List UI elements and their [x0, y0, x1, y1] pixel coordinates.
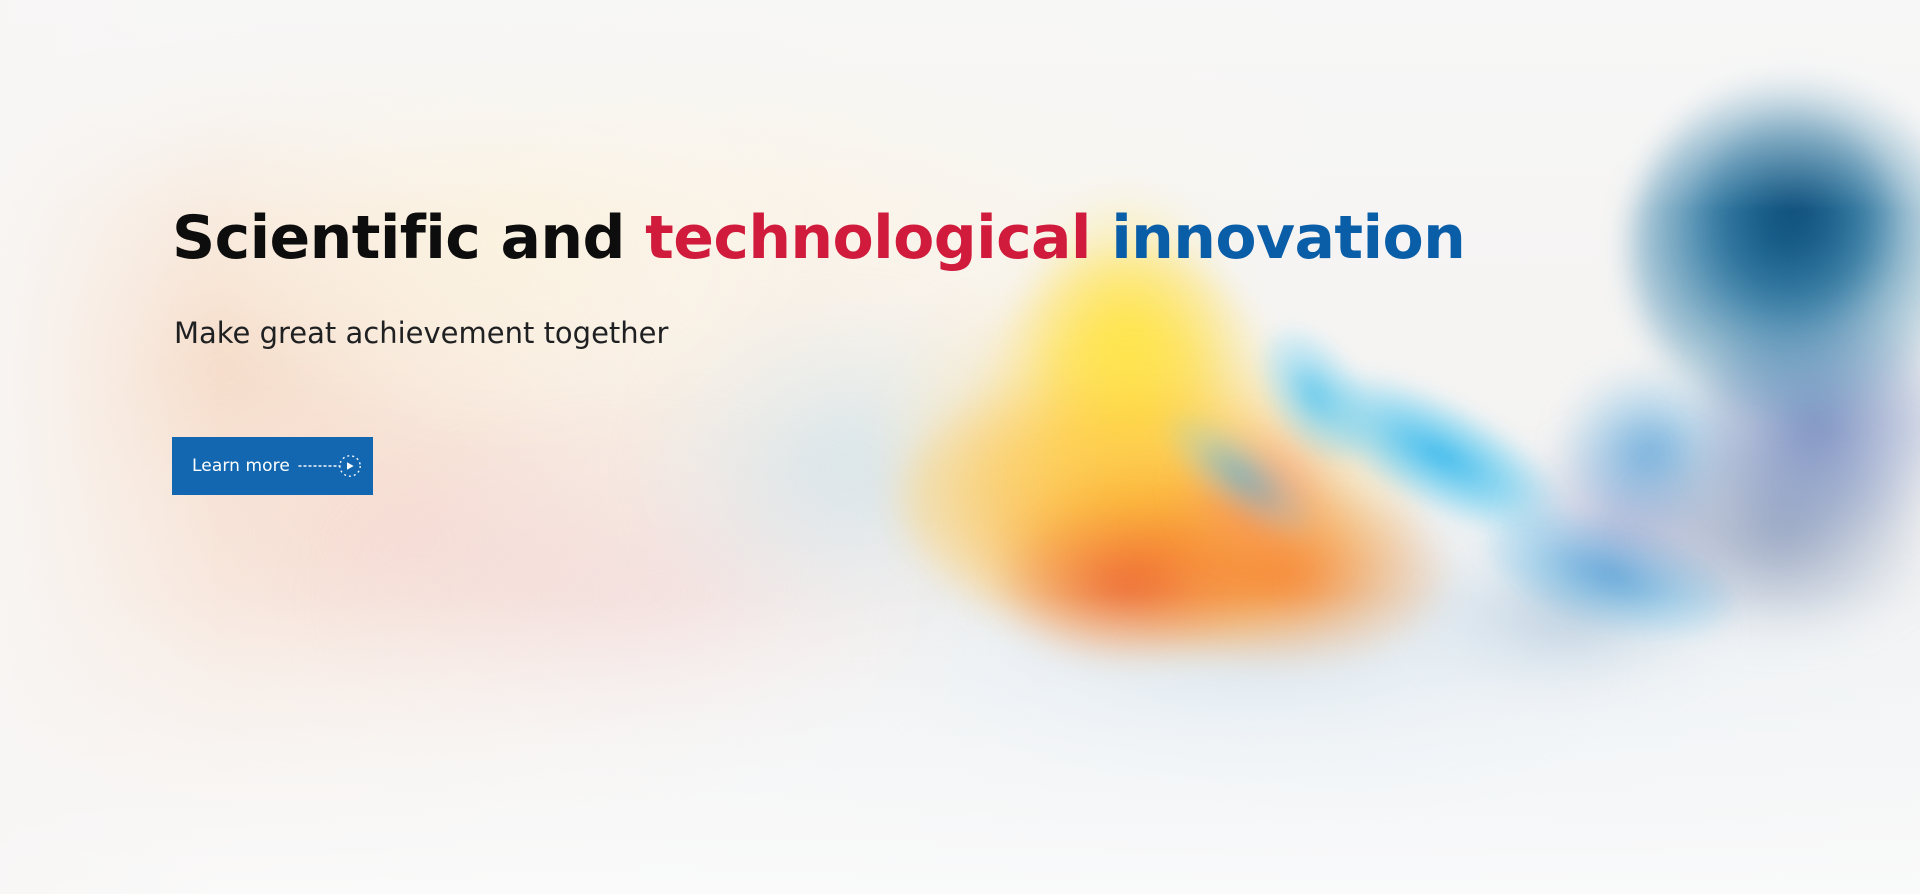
hero-subtitle: Make great achievement together	[174, 315, 668, 353]
cyan-ribbon-lower-icon	[1470, 486, 1750, 663]
top-haze-overlay	[0, 0, 1920, 210]
yellow-plume-core-icon	[980, 250, 1280, 580]
orange-plume-right-icon	[1120, 480, 1450, 670]
arrow-right-circle-dotted-icon	[298, 454, 364, 478]
red-plume-upper-icon	[1180, 420, 1340, 560]
blue-cloud-dark-icon	[1690, 110, 1900, 330]
hero-banner: Scientific and technological innovation …	[0, 0, 1920, 894]
headline-segment-blue: innovation	[1111, 203, 1465, 273]
pink-smoke-bottom-icon	[330, 430, 950, 760]
pale-cyan-wisp-icon	[640, 300, 1060, 630]
learn-more-label: Learn more	[192, 456, 290, 476]
hero-headline: Scientific and technological innovation	[172, 205, 1465, 272]
warm-smoke-left-icon	[0, 60, 640, 680]
cyan-ribbon-mid-icon	[1148, 392, 1333, 558]
bright-blue-cloud-icon	[1560, 370, 1740, 530]
cyan-ribbon-icon	[1282, 336, 1599, 574]
red-plume-icon	[1000, 510, 1250, 660]
bottom-haze-overlay	[0, 594, 1920, 894]
learn-more-button[interactable]: Learn more	[172, 437, 373, 495]
yellow-plume-left-icon	[880, 300, 1100, 600]
headline-segment-black: Scientific and	[172, 203, 645, 273]
blue-cloud-mid-icon	[1700, 300, 1920, 550]
cyan-ribbon-upper-icon	[1237, 308, 1393, 483]
violet-cloud-icon	[1520, 430, 1740, 610]
blue-cloud-tail-icon	[1420, 560, 1720, 700]
headline-segment-red: technological	[645, 203, 1111, 273]
warm-smoke-lower-left-icon	[60, 330, 780, 750]
pale-blue-base-smoke-icon	[900, 520, 1600, 800]
blue-cloud-lower-icon	[1630, 440, 1920, 640]
yellow-plume-wide-icon	[900, 360, 1420, 640]
blue-cloud-main-icon	[1630, 80, 1920, 420]
orange-plume-icon	[960, 440, 1360, 670]
